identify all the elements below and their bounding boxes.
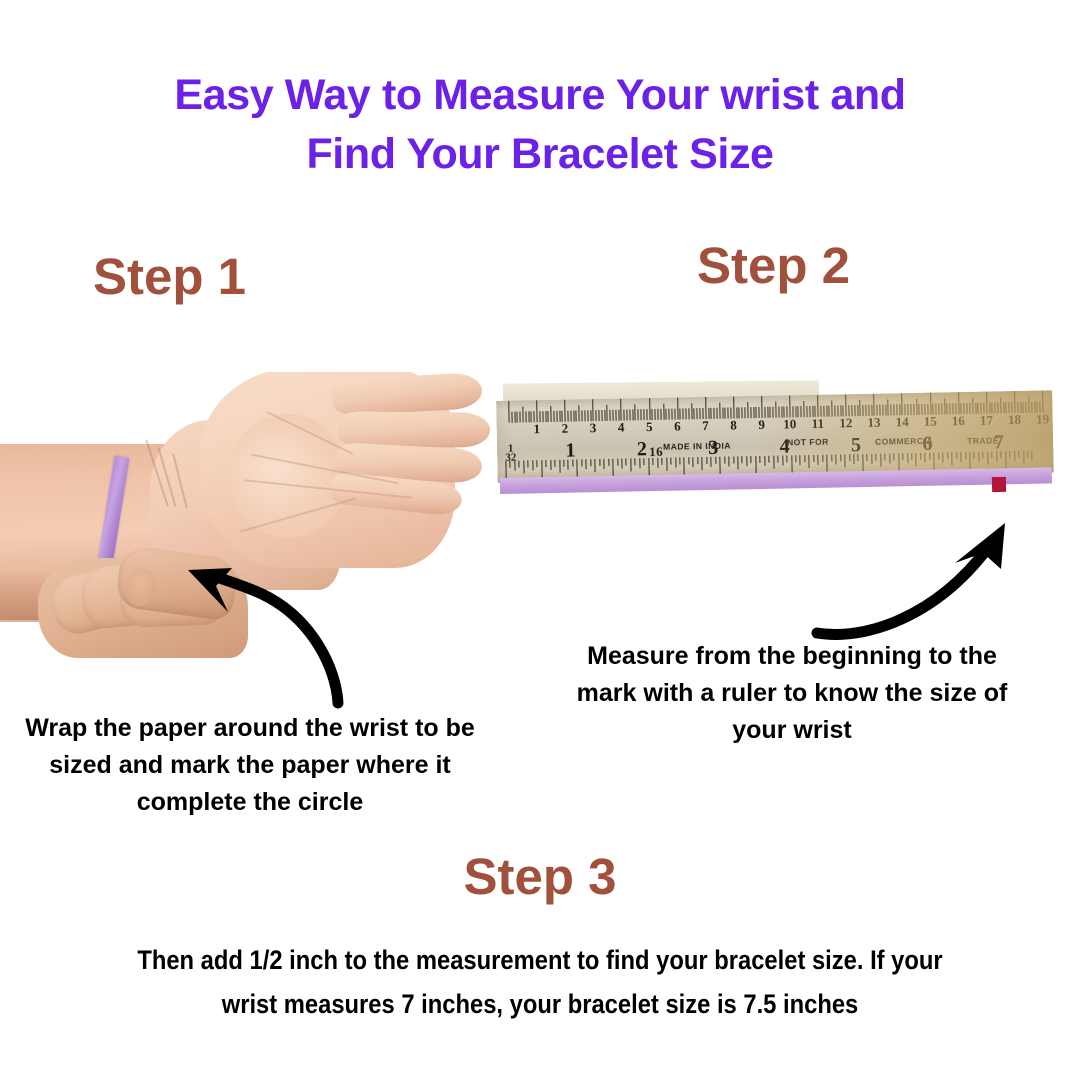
title-line-1: Easy Way to Measure Your wrist and <box>174 71 905 119</box>
step-3-heading: Step 3 <box>0 849 1080 905</box>
ruler-cm-number: 3 <box>590 420 597 436</box>
ruler-cm-number: 11 <box>812 416 825 432</box>
ruler-cm-number: 5 <box>646 419 653 435</box>
ruler-cm-number: 9 <box>758 417 765 433</box>
ruler-cm-number: 8 <box>730 417 737 433</box>
page-title: Easy Way to Measure Your wrist and Find … <box>0 66 1080 184</box>
ruler-imprint-not-for: NOT FOR <box>787 437 829 448</box>
ruler-cm-number: 1 <box>533 421 540 437</box>
ruler-inch-sub-label: 16 <box>649 444 663 460</box>
step-2-caption: Measure from the beginning to the mark w… <box>572 638 1012 749</box>
ruler-cm-number: 16 <box>952 413 965 429</box>
palm-highlight <box>228 414 348 538</box>
finger-middle <box>338 411 490 447</box>
step-2-heading: Step 2 <box>697 238 850 294</box>
title-line-2: Find Your Bracelet Size <box>0 125 1080 184</box>
step-1-caption: Wrap the paper around the wrist to be si… <box>10 710 490 821</box>
step-3-caption: Then add 1/2 inch to the measurement to … <box>118 938 963 1026</box>
ruler-cm-number: 13 <box>867 415 880 431</box>
ruler-cm-number: 6 <box>674 418 681 434</box>
ruler-fraction-label: 1 32 <box>505 445 516 463</box>
ruler-imprint-made-in-india: MADE IN INDIA <box>663 441 731 452</box>
finger-index <box>331 372 483 416</box>
ruler-cm-number: 4 <box>618 420 625 436</box>
ruler-cm-number: 7 <box>702 418 709 434</box>
ruler-cm-number: 14 <box>896 414 909 430</box>
step-2-photo: 12345678910111213141516171819 1234567 1 … <box>497 382 1053 500</box>
ruler-cm-number: 10 <box>783 416 796 432</box>
ruler-cm-number: 19 <box>1036 411 1049 427</box>
ruler-imprint-trade: TRADE <box>967 435 999 446</box>
ruler-cm-number: 18 <box>1008 412 1021 428</box>
step-1-arrow-icon <box>170 560 370 710</box>
ruler-cm-number: 17 <box>980 412 993 428</box>
infographic-canvas: Easy Way to Measure Your wrist and Find … <box>0 0 1080 1080</box>
step-2-arrow-icon <box>805 505 1035 645</box>
step-1-heading: Step 1 <box>93 249 246 305</box>
ruler-cm-number: 12 <box>839 415 852 431</box>
ruler-imprint-commercial: COMMERCIA <box>875 436 933 447</box>
ruler-cm-number: 2 <box>562 421 569 437</box>
ruler-cm-number: 15 <box>924 414 937 430</box>
red-mark-on-paper <box>992 477 1006 492</box>
